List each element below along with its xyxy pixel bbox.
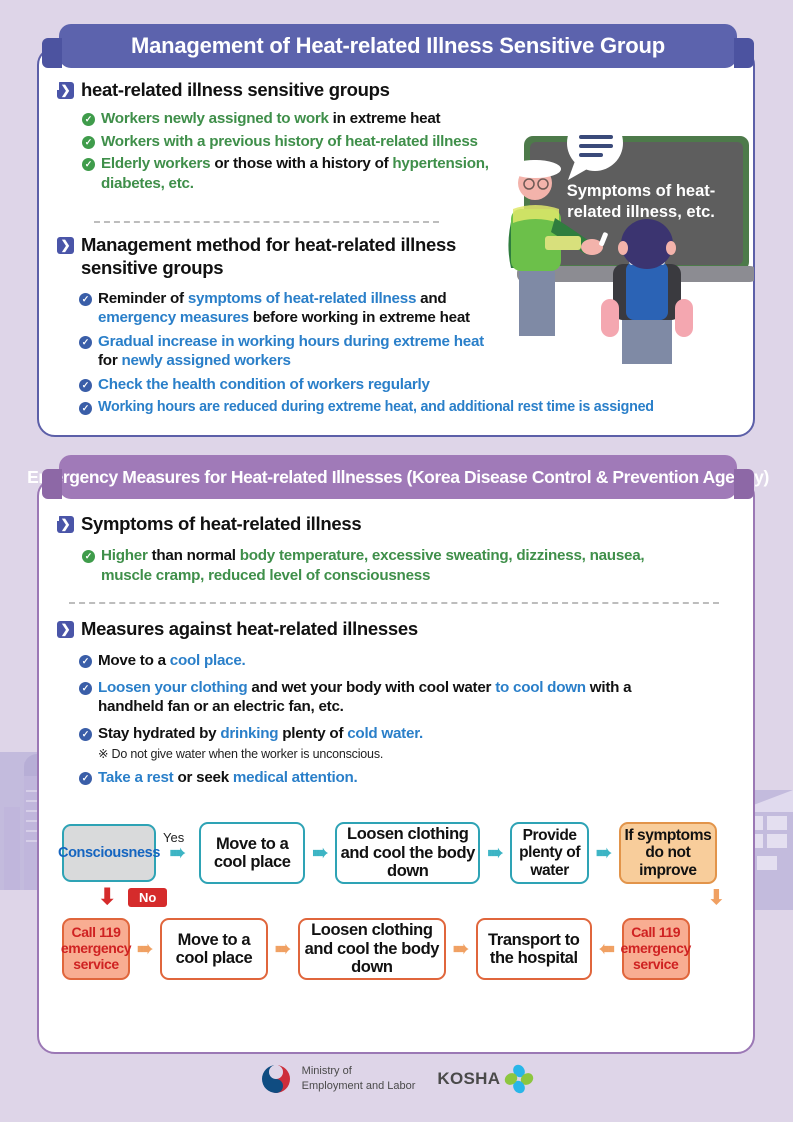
check-circle-icon: ✓ [79, 772, 92, 785]
list-item-text: Check the health condition of workers re… [98, 375, 430, 394]
ministry-logo: Ministry of Employment and Labor [259, 1062, 416, 1096]
ribbon-notch-left [39, 499, 59, 521]
list-item-text: Workers newly assigned to work in extrem… [101, 109, 440, 128]
flow-node-provide-water: Provide plenty of water [510, 822, 589, 884]
list-item: ✓ Reminder of symptoms of heat-related i… [79, 289, 499, 328]
card2-section2-heading-row: ❯ Measures against heat-related illnesse… [57, 617, 737, 640]
arrow-down-icon: ⬇ [98, 884, 116, 910]
arrow-left-icon: ➠ [599, 938, 615, 961]
taegeuk-icon [259, 1062, 293, 1096]
arrow-right-icon: ➠ [275, 938, 291, 961]
flow-node-transport-hospital: Transport to the hospital [476, 918, 592, 980]
yes-label: Yes [163, 830, 184, 845]
list-item-text: Workers with a previous history of heat-… [101, 132, 478, 151]
flowchart-connectors: ⬇ No ⬇ [62, 886, 717, 916]
arrow-right-icon: ➠ [596, 842, 612, 865]
check-circle-icon: ✓ [79, 655, 92, 668]
card1-section2-bullets: ✓ Reminder of symptoms of heat-related i… [57, 289, 737, 417]
ministry-text: Ministry of Employment and Labor [302, 1064, 416, 1094]
kosha-logo: KOSHA [437, 1064, 534, 1094]
flow-node-consciousness: Consciousness [62, 824, 156, 882]
chevron-right-icon: ❯ [57, 516, 74, 533]
svg-text:Symptoms of heat-: Symptoms of heat- [567, 182, 716, 200]
flow-node-call-119-right: Call 119 emergency service [622, 918, 690, 980]
arrow-right-icon: ➠ [312, 842, 328, 865]
card1-section1-heading: heat-related illness sensitive groups [81, 78, 390, 101]
list-item-text: Higher than normal body temperature, exc… [101, 546, 667, 585]
list-item: ✓ Higher than normal body temperature, e… [82, 546, 667, 585]
flow-node-move-cool-place: Move to a cool place [199, 822, 305, 884]
card2-section2-bullets: ✓ Move to a cool place. ✓ Loosen your cl… [57, 651, 737, 787]
list-item-text: Stay hydrated by drinking plenty of cold… [98, 724, 423, 743]
list-item-text: Gradual increase in working hours during… [98, 332, 499, 371]
list-item: ✓ Move to a cool place. [79, 651, 737, 670]
card2-section1-bullets: ✓ Higher than normal body temperature, e… [57, 546, 737, 585]
card2-banner-title: Emergency Measures for Heat-related Illn… [59, 455, 737, 499]
list-item-text: Take a rest or seek medical attention. [98, 768, 358, 787]
card2-section1-heading-row: ❯ Symptoms of heat-related illness [57, 512, 737, 535]
check-circle-icon: ✓ [79, 402, 92, 415]
flowchart-row-unconscious: Call 119 emergency service ➠ Move to a c… [62, 916, 717, 982]
arrow-right-icon: ➠ [137, 938, 153, 961]
arrow-right-icon: ➠ [170, 843, 186, 864]
flow-node-move-cool-place-2: Move to a cool place [160, 918, 268, 980]
check-circle-icon: ✓ [79, 682, 92, 695]
list-item-text: Reminder of symptoms of heat-related ill… [98, 289, 499, 328]
svg-text:related illness, etc.: related illness, etc. [567, 203, 715, 221]
arrow-down-icon: ⬇ [708, 885, 725, 910]
list-item-text: Move to a cool place. [98, 651, 246, 670]
card2-section2-heading: Measures against heat-related illnesses [81, 617, 418, 640]
emergency-response-flowchart: Consciousness Yes ➠ Move to a cool place… [62, 820, 717, 982]
list-item: ✓ Elderly workers or those with a histor… [82, 154, 517, 193]
check-circle-icon: ✓ [79, 336, 92, 349]
chevron-right-icon: ❯ [57, 237, 74, 254]
arrow-right-icon: ➠ [453, 938, 469, 961]
list-item: ✓ Workers with a previous history of hea… [82, 132, 517, 151]
check-circle-icon: ✓ [79, 728, 92, 741]
card1-section2-heading: Management method for heat-related illne… [81, 233, 487, 280]
arrow-right-icon: ➠ [487, 842, 503, 865]
card2-section1-heading: Symptoms of heat-related illness [81, 512, 361, 535]
flow-arrow-yes-wrap: Yes ➠ [156, 842, 199, 865]
card-management-sensitive-group: Management of Heat-related Illness Sensi… [37, 47, 755, 437]
card1-banner-title: Management of Heat-related Illness Sensi… [59, 24, 737, 68]
list-item: ✓ Loosen your clothing and wet your body… [79, 678, 679, 717]
check-circle-icon: ✓ [82, 550, 95, 563]
check-circle-icon: ✓ [82, 158, 95, 171]
hydration-caution-note: ※ Do not give water when the worker is u… [79, 746, 737, 761]
list-item: ✓ Workers newly assigned to work in extr… [82, 109, 517, 128]
no-badge: No [128, 888, 167, 907]
list-item: ✓ Gradual increase in working hours duri… [79, 332, 499, 371]
chevron-right-icon: ❯ [57, 82, 74, 99]
card1-divider [94, 221, 439, 223]
list-item-text: Loosen your clothing and wet your body w… [98, 678, 679, 717]
flow-node-call-119-left: Call 119 emergency service [62, 918, 130, 980]
flowchart-row-conscious: Consciousness Yes ➠ Move to a cool place… [62, 820, 717, 886]
ribbon-notch-left [39, 68, 59, 90]
list-item-text: Working hours are reduced during extreme… [98, 398, 654, 416]
flow-node-loosen-clothing-2: Loosen clothing and cool the body down [298, 918, 446, 980]
kosha-label: KOSHA [437, 1069, 500, 1089]
check-circle-icon: ✓ [82, 113, 95, 126]
chevron-right-icon: ❯ [57, 621, 74, 638]
list-item: ✓ Check the health condition of workers … [79, 375, 737, 394]
card1-section2-heading-row: ❯ Management method for heat-related ill… [57, 233, 487, 280]
list-item: ✓ Take a rest or seek medical attention. [79, 768, 737, 787]
list-item: ✓ Stay hydrated by drinking plenty of co… [79, 724, 737, 743]
flow-node-loosen-clothing: Loosen clothing and cool the body down [335, 822, 480, 884]
flow-node-symptoms-not-improve: If symptoms do not improve [619, 822, 717, 884]
ministry-line2: Employment and Labor [302, 1079, 416, 1094]
check-circle-icon: ✓ [79, 293, 92, 306]
ministry-line1: Ministry of [302, 1064, 416, 1079]
infographic-page: Management of Heat-related Illness Sensi… [0, 0, 793, 1122]
list-item: ✓ Working hours are reduced during extre… [79, 398, 737, 416]
ribbon-notch-right [733, 499, 753, 521]
ribbon-notch-right [733, 68, 753, 90]
kosha-mark-icon [504, 1064, 534, 1094]
card2-divider [69, 602, 719, 604]
footer-logos: Ministry of Employment and Labor KOSHA [0, 1062, 793, 1096]
list-item-text: Elderly workers or those with a history … [101, 154, 517, 193]
check-circle-icon: ✓ [79, 379, 92, 392]
card1-section1-heading-row: ❯ heat-related illness sensitive groups [57, 78, 517, 101]
check-circle-icon: ✓ [82, 136, 95, 149]
hydration-group: ✓ Stay hydrated by drinking plenty of co… [79, 724, 737, 761]
card1-section1-bullets: ✓ Workers newly assigned to work in extr… [57, 109, 517, 193]
